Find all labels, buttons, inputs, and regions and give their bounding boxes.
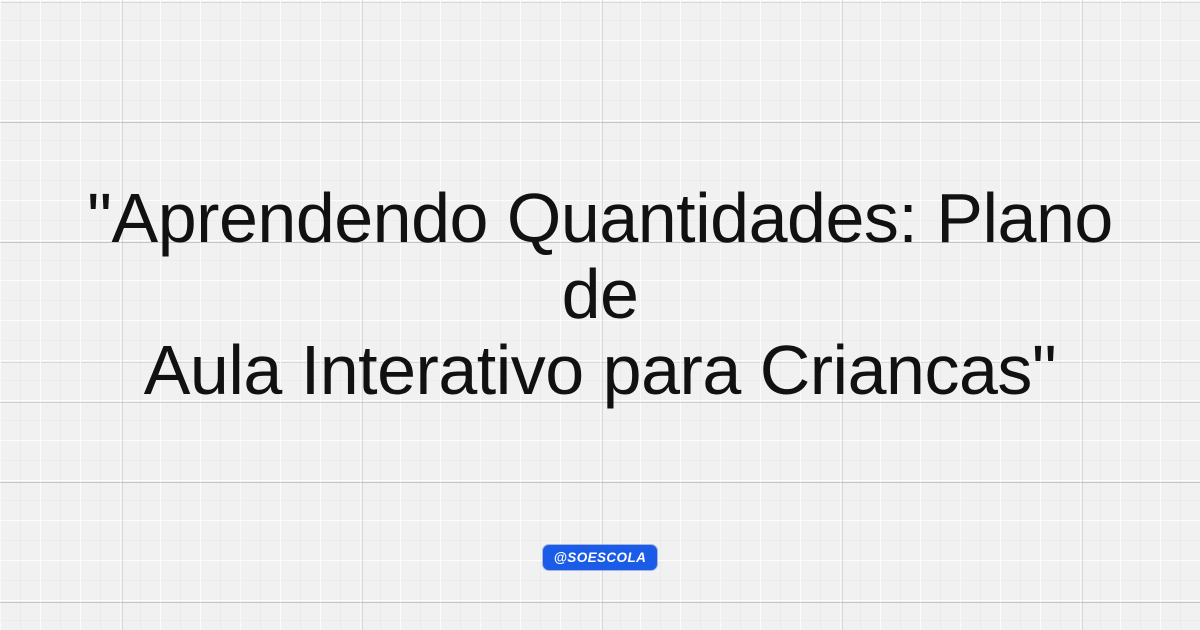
watermark-badge: @SOESCOLA [543, 545, 658, 570]
social-share-card: "Aprendendo Quantidades: Plano de Aula I… [0, 0, 1200, 630]
page-title: "Aprendendo Quantidades: Plano de Aula I… [0, 180, 1200, 408]
watermark-row: @SOESCOLA [0, 545, 1200, 570]
title-block: "Aprendendo Quantidades: Plano de Aula I… [0, 0, 1200, 630]
